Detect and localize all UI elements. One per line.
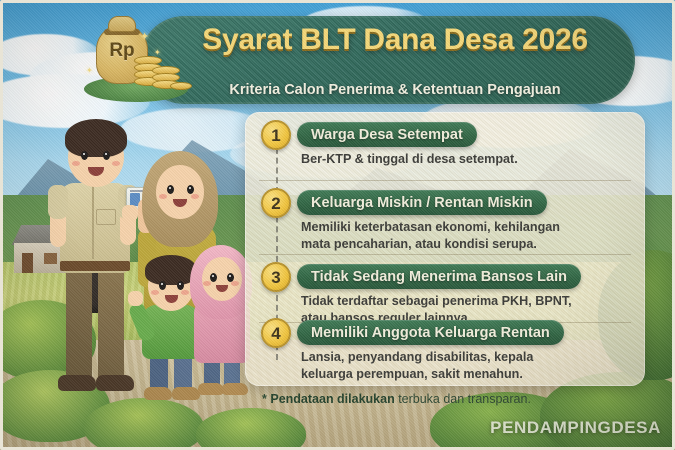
requirement-heading: Tidak Sedang Menerima Bansos Lain bbox=[297, 264, 581, 289]
officer-hand bbox=[122, 205, 138, 221]
officer-pocket bbox=[96, 209, 116, 225]
girl-face bbox=[202, 257, 242, 301]
footnote: * Pendataan dilakukan terbuka dan transp… bbox=[262, 392, 662, 406]
requirement-description: Lansia, penyandang disabilitas, kepala k… bbox=[301, 349, 621, 383]
requirement-separator bbox=[259, 180, 631, 181]
requirement-number-badge: 2 bbox=[261, 188, 291, 218]
money-bag-icon: Rp ✦ ✦ ✦ bbox=[82, 14, 190, 106]
sparkle-icon: ✦ bbox=[154, 48, 161, 57]
mother-blush bbox=[191, 194, 199, 199]
girl-eye bbox=[210, 273, 217, 282]
mother-blush bbox=[159, 194, 167, 199]
requirement-heading: Keluarga Miskin / Rentan Miskin bbox=[297, 190, 547, 215]
requirement-number-badge: 4 bbox=[261, 318, 291, 348]
requirements-panel: 1 Warga Desa Setempat Ber-KTP & tinggal … bbox=[245, 112, 645, 386]
requirement-description-line: mata pencaharian, atau kondisi serupa. bbox=[301, 236, 621, 253]
girl-shoe bbox=[222, 383, 248, 395]
girl-blush bbox=[231, 281, 239, 286]
officer-leg bbox=[66, 265, 92, 381]
requirement-description-line: Ber-KTP & tinggal di desa setempat. bbox=[301, 152, 518, 166]
coin-icon bbox=[170, 82, 192, 90]
requirement-number-badge: 1 bbox=[261, 120, 291, 150]
requirement-heading: Memiliki Anggota Keluarga Rentan bbox=[297, 320, 564, 345]
officer-blush bbox=[112, 161, 120, 166]
officer-shoe bbox=[58, 375, 96, 391]
sack-neck bbox=[108, 16, 136, 32]
family-illustration bbox=[20, 105, 245, 435]
footnote-rest-text: terbuka dan transparan. bbox=[395, 392, 531, 406]
requirement-number-badge: 3 bbox=[261, 262, 291, 292]
page-title: Syarat BLT Dana Desa 2026 bbox=[155, 23, 635, 57]
officer-shoe bbox=[96, 375, 134, 391]
officer-blush bbox=[72, 161, 80, 166]
boy-waving-hand bbox=[128, 291, 143, 306]
requirement-heading: Warga Desa Setempat bbox=[297, 122, 477, 147]
boy-shoe bbox=[144, 387, 172, 400]
mother-face bbox=[156, 165, 204, 219]
boy-eye bbox=[177, 281, 184, 290]
officer-belt bbox=[60, 261, 130, 271]
page-subtitle: Kriteria Calon Penerima & Ketentuan Peng… bbox=[150, 82, 640, 98]
requirement-description: Ber-KTP & tinggal di desa setempat. bbox=[301, 151, 621, 168]
sparkle-icon: ✦ bbox=[140, 30, 149, 43]
requirement-description-line: keluarga perempuan, sakit menahun. bbox=[301, 366, 621, 383]
officer-leg bbox=[98, 265, 124, 381]
brand-watermark: PENDAMPINGDESA bbox=[490, 418, 661, 438]
officer-sleeve bbox=[48, 185, 68, 219]
footnote-strong-text: Pendataan dilakukan bbox=[270, 392, 394, 406]
officer-hair bbox=[65, 119, 127, 157]
requirement-description-line: Lansia, penyandang disabilitas, kepala bbox=[301, 350, 533, 364]
officer-placket bbox=[92, 185, 94, 259]
requirement-description: Memiliki keterbatasan ekonomi, kehilanga… bbox=[301, 219, 621, 253]
mother-eye bbox=[167, 185, 174, 194]
requirement-separator bbox=[259, 254, 631, 255]
girl-blush bbox=[203, 281, 211, 286]
officer-eye bbox=[81, 151, 88, 160]
sparkle-icon: ✦ bbox=[86, 66, 93, 75]
requirement-description-line: Memiliki keterbatasan ekonomi, kehilanga… bbox=[301, 220, 560, 234]
mother-eye bbox=[187, 185, 194, 194]
requirement-description-line: Tidak terdaftar sebagai penerima PKH, BP… bbox=[301, 294, 572, 308]
boy-eye bbox=[159, 281, 166, 290]
officer-eye bbox=[103, 151, 110, 160]
footnote-asterisk: * bbox=[262, 392, 267, 406]
girl-shoe bbox=[198, 383, 224, 395]
boy-blush bbox=[151, 290, 159, 295]
